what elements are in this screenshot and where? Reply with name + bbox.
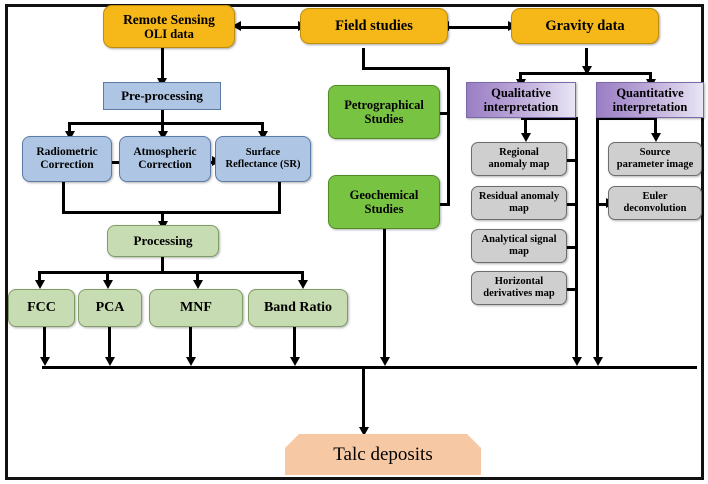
node-pre-processing[interactable]: Pre-processing <box>103 82 221 110</box>
arrowhead-geochem-bar <box>380 357 390 366</box>
radiometric-line2: Correction <box>36 159 97 172</box>
regional-line2: anomaly map <box>489 159 550 171</box>
quantitative-line1: Quantitative <box>613 86 688 100</box>
flowchart-diagram: Remote Sensing OLI data Field studies Gr… <box>0 0 708 484</box>
euler-line1: Euler <box>623 191 686 203</box>
drop-fcc-out <box>43 327 46 360</box>
drop-surf-out <box>278 182 281 214</box>
node-geochemical-studies[interactable]: Geochemical Studies <box>328 175 440 229</box>
bus-field-right <box>362 67 450 70</box>
node-quantitative-interpretation[interactable]: Quantitative interpretation <box>596 82 704 118</box>
bus-quant-down <box>596 117 599 360</box>
source-param-line2: parameter image <box>617 159 693 171</box>
petrographical-line1: Petrographical <box>344 98 424 112</box>
arrowhead-bandratio-bar <box>290 357 300 366</box>
remote-sensing-line2: OLI data <box>123 27 215 41</box>
analytical-line1: Analytical signal <box>482 234 557 246</box>
node-euler-deconvolution[interactable]: Euler deconvolution <box>608 186 702 220</box>
node-radiometric-correction[interactable]: Radiometric Correction <box>22 136 112 182</box>
node-petrographical-studies[interactable]: Petrographical Studies <box>328 85 440 139</box>
horizontal-line1: Horizontal <box>483 276 554 288</box>
euler-line2: deconvolution <box>623 203 686 215</box>
arrowhead-fcc-bar <box>40 357 50 366</box>
node-remote-sensing[interactable]: Remote Sensing OLI data <box>103 5 235 48</box>
bus-qual-down <box>575 117 578 360</box>
drop-mnf-out <box>189 327 192 360</box>
qualitative-line2: interpretation <box>484 100 559 114</box>
bus-outputs <box>38 271 304 274</box>
node-processing[interactable]: Processing <box>107 225 219 257</box>
collector-bar <box>42 366 697 369</box>
analytical-line2: map <box>482 246 557 258</box>
drop-geochem-out <box>383 222 386 360</box>
node-surface-reflectance[interactable]: Surface Reflectance (SR) <box>215 136 311 182</box>
bus-corrections <box>68 122 264 125</box>
radiometric-line1: Radiometric <box>36 146 97 159</box>
arrowhead-regional <box>521 133 531 142</box>
arrowhead-quant-bar <box>593 357 603 366</box>
source-param-line1: Source <box>617 147 693 159</box>
node-source-parameter-image[interactable]: Source parameter image <box>608 142 702 176</box>
arrowhead-mnf-bar <box>186 357 196 366</box>
node-band-ratio[interactable]: Band Ratio <box>248 289 348 327</box>
arrowhead-source <box>651 133 661 142</box>
bus-to-processing <box>62 211 281 214</box>
connector-field-gravity <box>448 26 510 29</box>
arrowhead-bandratio <box>298 280 308 289</box>
arrowhead-qual-bar <box>572 357 582 366</box>
connector-rs-preproc <box>161 48 164 81</box>
node-analytical-signal-map[interactable]: Analytical signal map <box>471 229 567 263</box>
surface-line1: Surface <box>226 147 301 159</box>
node-residual-anomaly-map[interactable]: Residual anomaly map <box>471 186 567 220</box>
arrowhead-mnf <box>193 280 203 289</box>
node-horizontal-derivatives-map[interactable]: Horizontal derivatives map <box>471 271 567 305</box>
node-atmospheric-correction[interactable]: Atmospheric Correction <box>119 136 211 182</box>
residual-line1: Residual anomaly <box>479 191 559 203</box>
bus-field-down <box>447 67 450 206</box>
drop-radio-out <box>62 182 65 214</box>
node-fcc[interactable]: FCC <box>8 289 75 327</box>
atmospheric-line1: Atmospheric <box>133 146 196 159</box>
arrowhead-fcc <box>35 280 45 289</box>
drop-to-talc <box>362 366 365 430</box>
node-field-studies[interactable]: Field studies <box>300 8 448 44</box>
drop-bandratio-out <box>293 327 296 360</box>
horizontal-line2: derivatives map <box>483 288 554 300</box>
geochemical-line1: Geochemical <box>350 188 419 202</box>
node-qualitative-interpretation[interactable]: Qualitative interpretation <box>466 82 576 118</box>
node-talc-deposits[interactable]: Talc deposits <box>285 434 481 475</box>
quantitative-line2: interpretation <box>613 100 688 114</box>
arrowhead-pca <box>103 280 113 289</box>
node-mnf[interactable]: MNF <box>149 289 243 327</box>
atmospheric-line2: Correction <box>133 159 196 172</box>
arrowhead-pca-bar <box>105 357 115 366</box>
regional-line1: Regional <box>489 147 550 159</box>
drop-pca-out <box>108 327 111 360</box>
remote-sensing-line1: Remote Sensing <box>123 12 215 27</box>
qualitative-line1: Qualitative <box>484 86 559 100</box>
residual-line2: map <box>479 203 559 215</box>
surface-line2: Reflectance (SR) <box>226 159 301 171</box>
petrographical-line2: Studies <box>344 112 424 126</box>
node-regional-anomaly-map[interactable]: Regional anomaly map <box>471 142 567 176</box>
node-gravity-data[interactable]: Gravity data <box>511 8 659 44</box>
connector-rs-field <box>240 26 300 29</box>
node-pca[interactable]: PCA <box>78 289 142 327</box>
arrowhead-gravity-down <box>582 66 592 75</box>
geochemical-line2: Studies <box>350 202 419 216</box>
